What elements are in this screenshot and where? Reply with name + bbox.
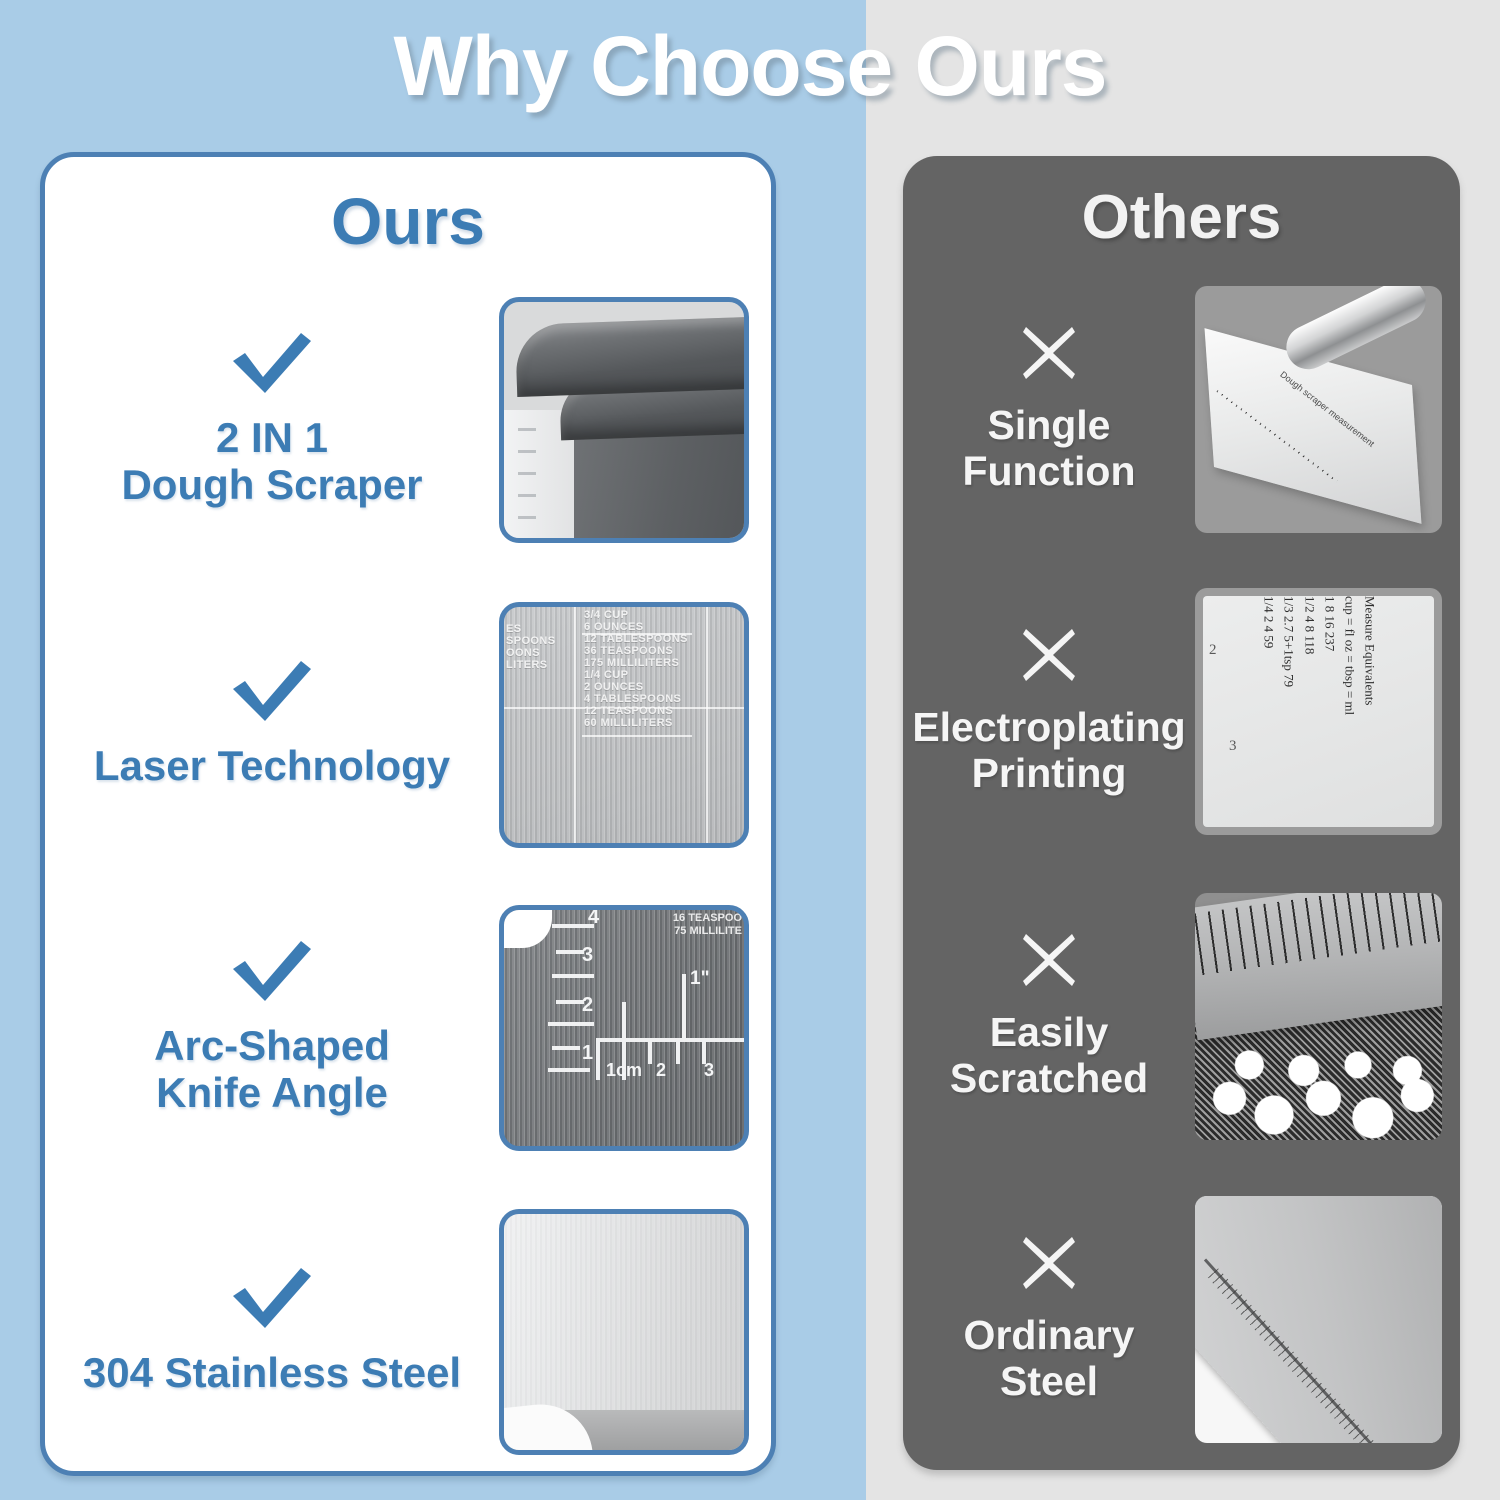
ours-rows: 2 IN 1 Dough Scraper Laser Technology xyxy=(45,157,771,1471)
ours-feature-arc: Arc-Shaped Knife Angle xyxy=(45,939,499,1116)
others-rows: Single Function Dough scraper measuremen… xyxy=(903,156,1460,1470)
others-feature-single-function: Single Function xyxy=(903,324,1195,495)
ours-feature-304: 304 Stainless Steel xyxy=(45,1266,499,1396)
others-feature-label: Electroplating Printing xyxy=(912,705,1185,797)
others-feature-label: Single Function xyxy=(962,403,1135,495)
ruler-note-text: 16 TEASPOO 75 MILLILITE xyxy=(673,912,742,940)
others-feature-label: Ordinary Steel xyxy=(964,1313,1135,1405)
check-icon xyxy=(229,659,315,728)
printed-table-text: Measure Equivalents cup = fl oz = tbsp =… xyxy=(1258,596,1379,826)
others-feature-electroplating: Electroplating Printing xyxy=(903,626,1195,797)
printed-side-3: 3 xyxy=(1229,738,1237,755)
ours-feature-laser: Laser Technology xyxy=(45,659,499,789)
others-row: Ordinary Steel xyxy=(903,1188,1460,1450)
ours-feature-label: 304 Stainless Steel xyxy=(83,1349,461,1396)
ruler-cm-2: 2 xyxy=(656,1060,666,1081)
laser-chart-text: 3/4 CUP 6 OUNCES 12 TABLESPOONS 36 TEASP… xyxy=(584,609,744,843)
printed-side-2: 2 xyxy=(1209,642,1217,659)
ours-feature-label: Arc-Shaped Knife Angle xyxy=(154,1022,390,1116)
ours-row: 2 IN 1 Dough Scraper xyxy=(45,287,771,552)
others-row: Easily Scratched xyxy=(903,885,1460,1147)
ruler-vertical-3: 3 xyxy=(582,944,593,967)
cross-icon xyxy=(1020,324,1078,387)
ruler-vertical-2: 2 xyxy=(582,994,593,1017)
ours-feature-label: Laser Technology xyxy=(94,742,450,789)
ours-row: Laser Technology ES SPOONS OONS LITERS 3… xyxy=(45,592,771,857)
others-feature-label: Easily Scratched xyxy=(950,1010,1148,1102)
cross-icon xyxy=(1020,931,1078,994)
laser-etched-conversion-chart-photo: ES SPOONS OONS LITERS 3/4 CUP 6 OUNCES 1… xyxy=(499,602,749,848)
ruler-vertical-4: 4 xyxy=(588,906,599,929)
others-row: Single Function Dough scraper measuremen… xyxy=(903,278,1460,540)
others-feature-easily-scratched: Easily Scratched xyxy=(903,931,1195,1102)
cross-icon xyxy=(1020,1234,1078,1297)
ours-row: Arc-Shaped Knife Angle 16 TEASPOO 75 MIL… xyxy=(45,895,771,1160)
ruler-cm-label: 1cm xyxy=(606,1060,642,1081)
check-icon xyxy=(229,939,315,1008)
others-feature-ordinary-steel: Ordinary Steel xyxy=(903,1234,1195,1405)
printed-measure-table-photo: Measure Equivalents cup = fl oz = tbsp =… xyxy=(1195,588,1442,835)
cross-icon xyxy=(1020,626,1078,689)
scratched-ruler-on-lace-photo xyxy=(1195,893,1442,1140)
ours-row: 304 Stainless Steel xyxy=(45,1199,771,1464)
ruler-vertical-1: 1 xyxy=(582,1042,593,1065)
page-title: Why Choose Ours xyxy=(0,18,1500,115)
others-row: Electroplating Printing Measure Equivale… xyxy=(903,580,1460,842)
check-icon xyxy=(229,1266,315,1335)
ruler-cm-3: 3 xyxy=(704,1060,714,1081)
dough-scraper-handles-photo xyxy=(499,297,749,543)
check-icon xyxy=(229,331,315,400)
ours-card: Ours 2 IN 1 Dough Scraper Laser Technolo… xyxy=(40,152,776,1476)
plain-metal-scraper-photo: Dough scraper measurement xyxy=(1195,286,1442,533)
others-card: Others Single Function Dough scraper mea… xyxy=(903,156,1460,1470)
ruler-inch-label: 1" xyxy=(690,968,710,990)
worn-steel-blade-photo xyxy=(1195,1196,1442,1443)
ours-feature-2in1: 2 IN 1 Dough Scraper xyxy=(45,331,499,508)
brushed-stainless-steel-photo xyxy=(499,1209,749,1455)
ours-feature-label: 2 IN 1 Dough Scraper xyxy=(121,414,422,508)
laser-etched-ruler-scale-photo: 16 TEASPOO 75 MILLILITE 4 3 2 1 1" xyxy=(499,905,749,1151)
